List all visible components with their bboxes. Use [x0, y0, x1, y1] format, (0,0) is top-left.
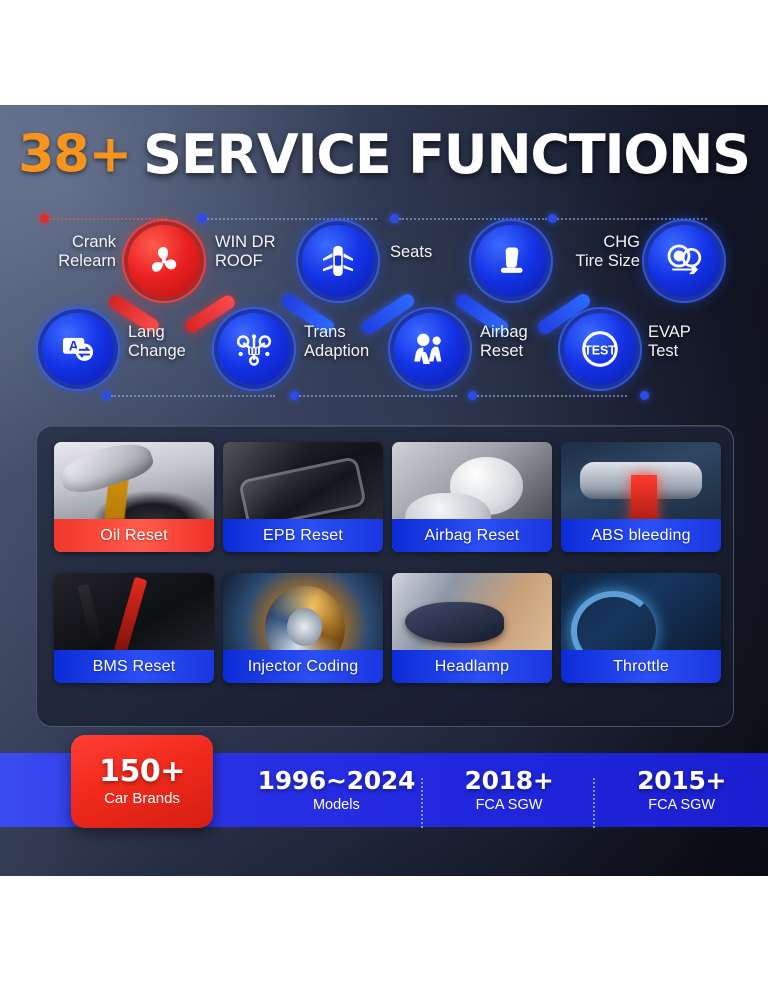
service-node-win-dr-roof[interactable]	[302, 225, 374, 297]
rail-dot-bottom-3	[468, 391, 477, 400]
car-brands-badge: 150+ Car Brands	[71, 735, 213, 828]
page-title: 38+SERVICE FUNCTIONS	[0, 123, 768, 186]
label-line-2: Test	[648, 342, 744, 361]
service-node-lang-change[interactable]: A	[42, 313, 114, 385]
stat-label: FCA SGW	[423, 796, 596, 815]
service-card-label: Airbag Reset	[392, 519, 552, 552]
service-card[interactable]: Oil Reset	[54, 442, 214, 552]
label-line-2: Tire Size	[548, 252, 640, 271]
rail-dot-bottom-4	[640, 391, 649, 400]
stat-label: Models	[250, 796, 423, 815]
rail-dot-top-1	[40, 214, 49, 223]
service-cards-panel: Oil Reset EPB Reset Airbag Reset ABS ble…	[36, 425, 734, 727]
service-card-label: Headlamp	[392, 650, 552, 683]
label-line-2: Adaption	[304, 342, 402, 361]
tire-change-icon	[664, 241, 704, 281]
rail-line-top-3	[399, 218, 547, 220]
rail-dot-top-3	[390, 214, 399, 223]
service-card[interactable]: Airbag Reset	[392, 442, 552, 552]
stat-label: FCA SGW	[595, 796, 768, 815]
fan-icon	[144, 241, 184, 281]
transmission-icon	[234, 329, 274, 369]
label-line-2: Relearn	[18, 252, 116, 271]
stat-models: 1996~2024 Models	[250, 766, 423, 815]
svg-text:TEST: TEST	[584, 343, 616, 357]
title-main: SERVICE FUNCTIONS	[143, 123, 750, 186]
rail-dot-bottom-1	[102, 391, 111, 400]
airbag-seatbelt-icon	[410, 329, 450, 369]
label-line-1: WIN DR	[215, 233, 303, 252]
service-card[interactable]: Headlamp	[392, 573, 552, 683]
service-card[interactable]: Injector Coding	[223, 573, 383, 683]
service-node-label-trans-adaption: Trans Adaption	[304, 323, 402, 361]
car-top-view-icon	[319, 242, 357, 280]
service-node-label-crank-relearn: Crank Relearn	[18, 233, 116, 271]
rail-line-top-4	[557, 218, 707, 220]
label-line-2: Change	[128, 342, 224, 361]
badge-label: Car Brands	[104, 789, 180, 809]
rail-dot-bottom-2	[290, 391, 299, 400]
rail-line-bottom-1	[111, 395, 275, 397]
service-card[interactable]: ABS bleeding	[561, 442, 721, 552]
service-node-seats[interactable]	[475, 225, 547, 297]
service-card-label: Injector Coding	[223, 650, 383, 683]
label-line-1: Airbag	[480, 323, 576, 342]
label-line-1: Crank	[18, 233, 116, 252]
service-card[interactable]: EPB Reset	[223, 442, 383, 552]
service-node-label-win-dr-roof: WIN DR ROOF	[215, 233, 303, 271]
rail-line-bottom-3	[477, 395, 627, 397]
rail-line-top-2	[207, 218, 377, 220]
service-node-label-airbag-reset: Airbag Reset	[480, 323, 576, 361]
label-line-1: Lang	[128, 323, 224, 342]
service-node-chg-tire-size[interactable]	[648, 225, 720, 297]
label-line-1: Seats	[390, 243, 474, 262]
service-card-label: Oil Reset	[54, 519, 214, 552]
service-icon-network: Crank Relearn WIN DR ROOF	[0, 215, 768, 410]
service-card-label: EPB Reset	[223, 519, 383, 552]
rail-line-top-1	[49, 218, 167, 220]
stat-fca-sgw-2018: 2018+ FCA SGW	[423, 766, 596, 815]
service-card[interactable]: BMS Reset	[54, 573, 214, 683]
service-card-label: ABS bleeding	[561, 519, 721, 552]
label-line-1: Trans	[304, 323, 402, 342]
badge-value: 150+	[99, 755, 185, 788]
service-node-trans-adaption[interactable]	[218, 313, 290, 385]
label-line-1: EVAP	[648, 323, 744, 342]
test-badge-icon: TEST	[577, 326, 623, 372]
label-line-2: ROOF	[215, 252, 303, 271]
label-line-2: Reset	[480, 342, 576, 361]
stat-value: 1996~2024	[250, 766, 423, 795]
service-card-label: Throttle	[561, 650, 721, 683]
title-highlight: 38+	[18, 125, 131, 185]
language-swap-icon: A	[59, 330, 97, 368]
service-card-label: BMS Reset	[54, 650, 214, 683]
service-node-label-seats: Seats	[390, 243, 474, 262]
service-node-label-lang-change: Lang Change	[128, 323, 224, 361]
car-seat-icon	[493, 243, 529, 279]
rail-line-bottom-2	[299, 395, 457, 397]
stat-fca-sgw-2015: 2015+ FCA SGW	[595, 766, 768, 815]
rail-dot-top-2	[198, 214, 207, 223]
stat-value: 2015+	[595, 766, 768, 795]
service-card[interactable]: Throttle	[561, 573, 721, 683]
service-node-label-chg-tire-size: CHG Tire Size	[548, 233, 640, 271]
label-line-1: CHG	[548, 233, 640, 252]
service-node-crank-relearn[interactable]	[128, 225, 200, 297]
service-node-airbag-reset[interactable]	[394, 313, 466, 385]
rail-dot-top-4	[548, 214, 557, 223]
service-cards-grid: Oil Reset EPB Reset Airbag Reset ABS ble…	[54, 442, 721, 683]
service-node-label-evap-test: EVAP Test	[648, 323, 744, 361]
promo-banner: 38+SERVICE FUNCTIONS	[0, 105, 768, 876]
stat-value: 2018+	[423, 766, 596, 795]
